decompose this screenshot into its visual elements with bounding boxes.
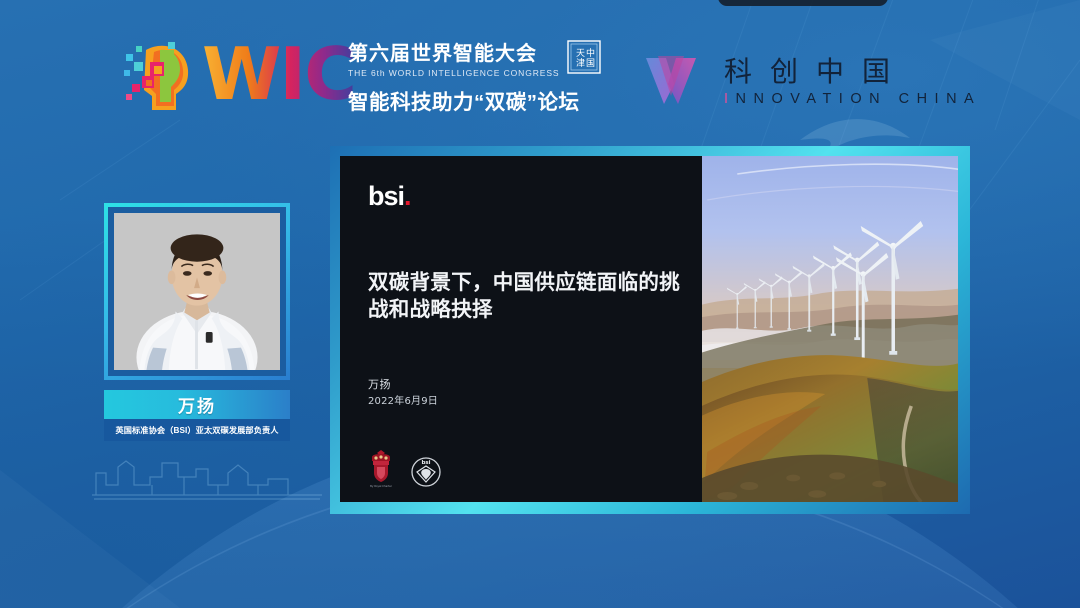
wic-title-cn: 第六届世界智能大会	[348, 42, 559, 66]
svg-text:津: 津	[576, 58, 585, 69]
innovation-title-en-rest: NNOVATION CHINA	[736, 91, 982, 107]
broadcast-stage: WIC 第六届世界智能大会 THE 6th WORLD INTELLIGENCE…	[0, 0, 1080, 608]
pixel-head-icon	[124, 36, 198, 116]
svg-text:WIC: WIC	[202, 37, 355, 115]
speaker-role-bar: 英国标准协会（BSI）亚太双碳发展部负责人	[104, 419, 290, 441]
svg-text:By Royal Charter: By Royal Charter	[370, 484, 393, 488]
wic-title-en: THE 6th WORLD INTELLIGENCE CONGRESS	[348, 68, 559, 78]
slide-photo-panel	[702, 156, 958, 502]
slide-date: 2022年6月9日	[368, 392, 438, 407]
slide-footer-logos: By Royal Charter bsi	[366, 448, 442, 488]
bsi-logo-text: bsi	[368, 181, 404, 211]
bsi-logo: bsi.	[368, 183, 411, 210]
svg-text:国: 国	[586, 58, 595, 69]
presentation-slide[interactable]: bsi. 双碳背景下，中国供应链面临的挑战和战略抉择 万扬 2022年6月9日	[340, 156, 958, 502]
wic-subtitle-cn: 智能科技助力“双碳”论坛	[348, 85, 598, 115]
wic-title-block: 第六届世界智能大会 THE 6th WORLD INTELLIGENCE CON…	[348, 42, 598, 115]
bsi-logo-dot: .	[404, 181, 411, 211]
speaker-panel: 万扬 英国标准协会（BSI）亚太双碳发展部负责人	[104, 203, 290, 441]
slide-text-panel: bsi. 双碳背景下，中国供应链面临的挑战和战略抉择 万扬 2022年6月9日	[340, 156, 702, 502]
bsi-kitemark-icon: bsi	[410, 452, 442, 488]
background-skyline-icon	[92, 455, 322, 501]
tianjin-china-seal-icon: 天 中 津 国	[567, 40, 601, 74]
slide-author: 万扬	[368, 376, 391, 392]
innovation-china-mark-icon	[640, 50, 702, 112]
wind-farm-photo	[702, 156, 958, 502]
presenter-video[interactable]	[114, 213, 280, 370]
innovation-title-en: INNOVATION CHINA	[724, 91, 981, 107]
event-header: WIC 第六届世界智能大会 THE 6th WORLD INTELLIGENCE…	[0, 0, 1080, 148]
speaker-role: 英国标准协会（BSI）亚太双碳发展部负责人	[115, 424, 278, 436]
royal-charter-crest-icon: By Royal Charter	[366, 448, 396, 488]
slide-frame: bsi. 双碳背景下，中国供应链面临的挑战和战略抉择 万扬 2022年6月9日	[330, 146, 970, 514]
svg-text:中: 中	[586, 47, 595, 59]
slide-title: 双碳背景下，中国供应链面临的挑战和战略抉择	[368, 269, 688, 323]
presenter-figure	[114, 213, 280, 370]
innovation-china-logo-group: 科创中国 INNOVATION CHINA	[640, 50, 981, 112]
presenter-video-frame	[104, 203, 290, 380]
svg-text:天: 天	[576, 49, 585, 59]
innovation-title-cn: 科创中国	[724, 55, 981, 89]
speaker-name-bar: 万扬	[104, 390, 290, 419]
speaker-name: 万扬	[178, 392, 216, 417]
svg-text:bsi: bsi	[421, 460, 430, 466]
